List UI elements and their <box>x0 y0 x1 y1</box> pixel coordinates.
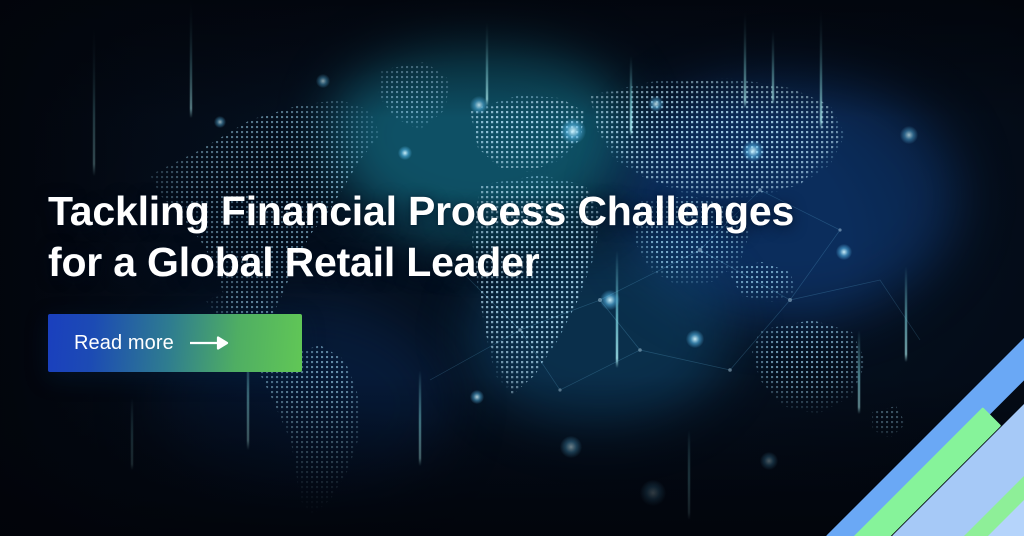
light-beam <box>630 56 632 136</box>
light-beam <box>93 26 95 176</box>
glow-particle <box>742 140 764 162</box>
read-more-button[interactable]: Read more <box>48 314 302 372</box>
glow-particle <box>316 74 330 88</box>
page-title: Tackling Financial Process Challenges fo… <box>48 186 908 288</box>
light-beam <box>190 0 192 118</box>
headline-line-1: Tackling Financial Process Challenges <box>48 186 908 237</box>
light-beam <box>131 398 133 470</box>
glow-particle <box>470 390 484 404</box>
light-beam <box>486 22 488 106</box>
light-beam <box>820 10 822 130</box>
headline-line-2: for a Global Retail Leader <box>48 237 908 288</box>
light-beam <box>419 370 421 466</box>
light-beam <box>772 30 774 104</box>
glow-particle <box>560 436 582 458</box>
light-beam <box>688 430 690 520</box>
arrow-right-icon <box>190 336 230 350</box>
hero-banner: Tackling Financial Process Challenges fo… <box>0 0 1024 536</box>
glow-particle <box>560 118 586 144</box>
glow-particle <box>398 146 412 160</box>
glow-particle <box>648 96 664 112</box>
glow-particle <box>900 126 918 144</box>
hero-content: Tackling Financial Process Challenges fo… <box>48 186 908 372</box>
glow-particle <box>640 480 666 506</box>
glow-particle <box>470 96 488 114</box>
read-more-label: Read more <box>74 332 174 355</box>
glow-particle <box>214 116 226 128</box>
light-beam <box>744 12 746 108</box>
